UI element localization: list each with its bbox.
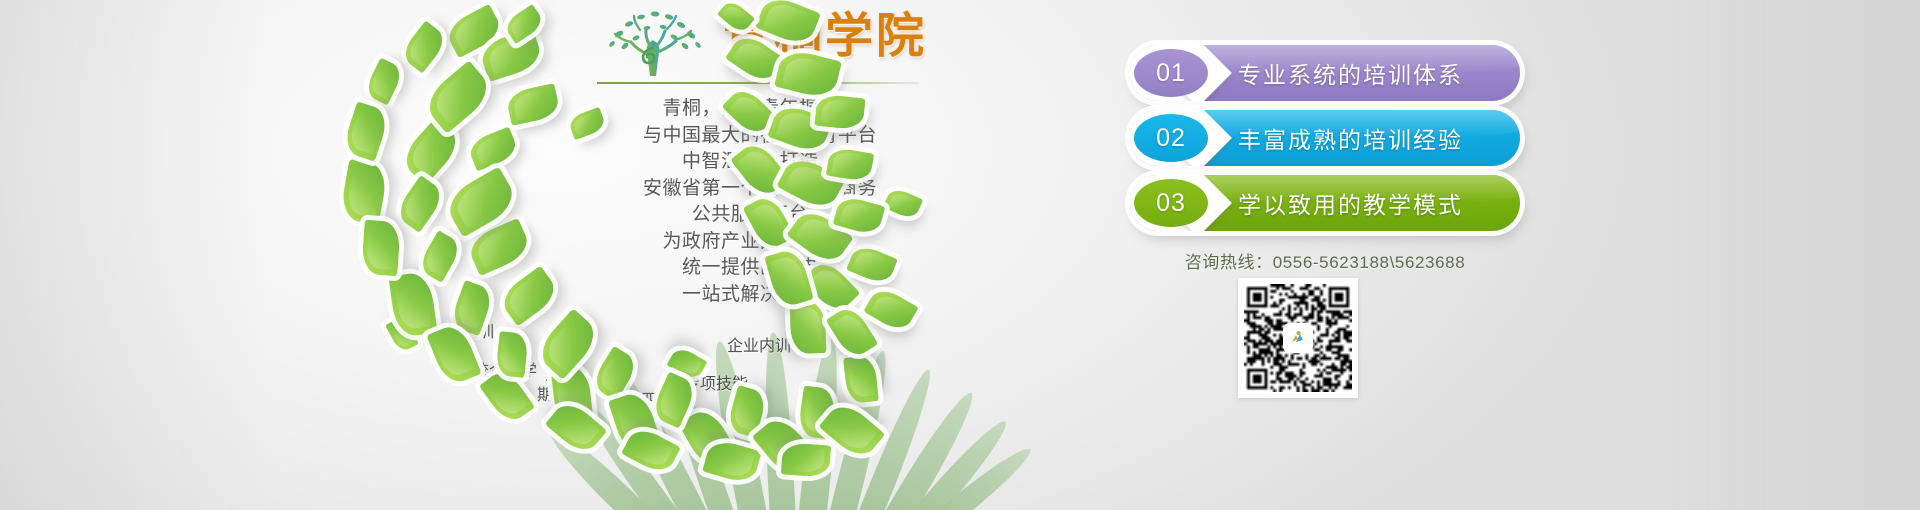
feature-number: 03 <box>1134 179 1208 227</box>
leaf-shape <box>361 220 401 276</box>
feature-label: 学以致用的教学模式 <box>1238 175 1463 231</box>
brand-underline <box>597 82 919 84</box>
leaf-shape <box>533 308 603 379</box>
leaf-shape <box>495 331 528 378</box>
leaf-shape <box>339 159 389 225</box>
program-tag-label: 企业内训 <box>727 332 791 356</box>
feature-number: 02 <box>1134 114 1208 162</box>
leaf-shape <box>363 58 405 106</box>
leaf-shape <box>399 20 450 73</box>
tree-logo-icon <box>595 8 713 76</box>
description-line: 统一提供区域电商 <box>560 255 960 282</box>
feature-number: 01 <box>1134 49 1208 97</box>
banner: 青桐学院 青桐，寓意青年桐城，与中国最大的在线教育平台中智汇联合打造。安徽省第一… <box>0 0 1920 510</box>
feature-pill-01[interactable]: 01 专业系统的培训体系 <box>1130 45 1520 101</box>
leaf-shape <box>466 126 520 171</box>
qr-center-logo-icon <box>1285 325 1311 351</box>
leaf-shape <box>393 175 447 233</box>
leaf-shape <box>790 301 827 354</box>
hotline-text: 咨询热线：0556-5623188\5623688 <box>1130 248 1520 273</box>
features-panel: 01 专业系统的培训体系 02 丰富成熟的培训经验 03 学以致用的教学模式 咨… <box>1110 0 1920 510</box>
feature-label: 丰富成熟的培训经验 <box>1238 110 1463 166</box>
feature-pill-03[interactable]: 03 学以致用的教学模式 <box>1130 175 1520 231</box>
leaf-shape <box>341 101 390 161</box>
feature-label: 专业系统的培训体系 <box>1238 45 1463 101</box>
leaf-shape <box>505 83 561 126</box>
leaf-shape <box>497 266 562 327</box>
feature-pill-02[interactable]: 02 丰富成熟的培训经验 <box>1130 110 1520 166</box>
wechat-qr-code[interactable] <box>1238 278 1358 398</box>
leaf-shape <box>416 230 463 283</box>
